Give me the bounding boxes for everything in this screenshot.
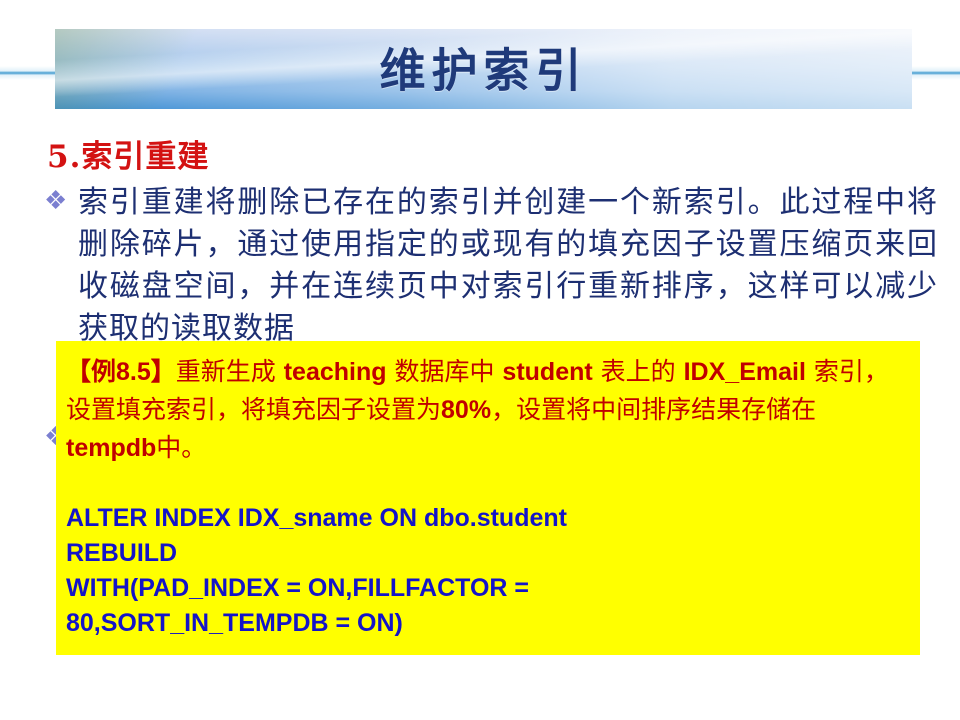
sql-code-block: ALTER INDEX IDX_sname ON dbo.student REB… xyxy=(66,501,906,641)
callout-keyword-fillfactor-value: 80% xyxy=(441,396,491,424)
diamond-bullet-icon: ❖ xyxy=(44,188,67,214)
callout-description: 【例8.5】重新生成 teaching 数据库中 student 表上的 IDX… xyxy=(66,353,906,467)
header-banner: 维护索引 xyxy=(55,29,912,109)
callout-desc-seg-2: 数据库中 xyxy=(387,357,503,386)
slide-canvas: 维护索引 5.索引重建 ❖ 索引重建将删除已存在的索引并创建一个新索引。此过程中… xyxy=(0,0,960,720)
example-callout-box: 【例8.5】重新生成 teaching 数据库中 student 表上的 IDX… xyxy=(56,341,920,655)
callout-keyword-idx-email: IDX_Email xyxy=(684,358,806,386)
callout-example-label: 【例8.5】 xyxy=(66,358,176,386)
slide-title: 维护索引 xyxy=(55,35,912,101)
body-paragraph-block: ❖ 索引重建将删除已存在的索引并创建一个新索引。此过程中将删除碎片，通过使用指定… xyxy=(38,182,938,350)
callout-spacer xyxy=(66,467,906,501)
section-heading: 5.索引重建 xyxy=(47,131,209,176)
callout-keyword-student: student xyxy=(502,358,592,386)
callout-desc-seg-6: 中。 xyxy=(156,433,206,462)
callout-keyword-teaching: teaching xyxy=(284,358,387,386)
callout-desc-seg-1: 重新生成 xyxy=(176,357,284,386)
callout-keyword-tempdb: tempdb xyxy=(66,434,156,462)
bullet-item-1: ❖ 索引重建将删除已存在的索引并创建一个新索引。此过程中将删除碎片，通过使用指定… xyxy=(38,182,938,350)
callout-desc-seg-5: ，设置将中间排序结果存储在 xyxy=(491,395,816,424)
callout-desc-seg-3: 表上的 xyxy=(593,357,684,386)
body-paragraph-text: 索引重建将删除已存在的索引并创建一个新索引。此过程中将删除碎片，通过使用指定的或… xyxy=(78,182,938,350)
